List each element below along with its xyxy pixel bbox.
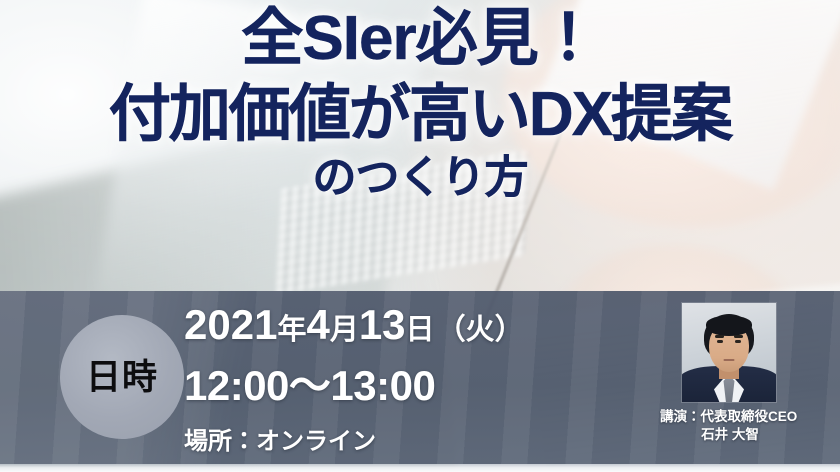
- event-month-number: 4: [306, 301, 329, 348]
- speaker-caption: 講演：代表取締役CEO 石井 大智: [682, 408, 778, 444]
- bottom-light-strip: [0, 464, 840, 472]
- event-place: 場所：オンライン: [184, 421, 524, 456]
- headline-line-2: 付加価値が高いDX提案: [0, 84, 840, 146]
- speaker-mouth-shape: [724, 359, 735, 361]
- event-day-unit: 日: [406, 314, 435, 346]
- event-datetime-block: 2021年4月13日（火） 12:00〜13:00 場所：オンライン: [184, 303, 524, 456]
- datetime-badge: 日時: [60, 315, 184, 439]
- headline: 全SIer必見！ 付加価値が高いDX提案 のつくり方: [0, 8, 840, 200]
- speaker-eye-right: [735, 340, 741, 343]
- event-year-number: 2021: [184, 301, 277, 348]
- event-day-number: 13: [359, 301, 406, 348]
- event-month-unit: 月: [330, 314, 359, 346]
- speaker-role: 講演：代表取締役CEO: [660, 408, 778, 426]
- speaker-fringe-shape: [706, 316, 752, 336]
- event-time: 12:00〜13:00: [184, 352, 524, 413]
- event-info-band: 日時 2021年4月13日（火） 12:00〜13:00 場所：オンライン: [0, 291, 840, 464]
- event-day-of-week: （火）: [437, 314, 524, 346]
- event-year-unit: 年: [277, 314, 306, 346]
- webinar-banner: 全SIer必見！ 付加価値が高いDX提案 のつくり方 日時 2021年4月13日…: [0, 0, 840, 472]
- event-date-line: 2021年4月13日（火）: [184, 303, 524, 348]
- headline-line-3: のつくり方: [0, 156, 840, 200]
- speaker-brow-left: [715, 335, 724, 338]
- datetime-badge-label: 日時: [86, 360, 158, 395]
- speaker-photo: [682, 303, 776, 402]
- speaker-brow-right: [734, 335, 743, 338]
- speaker-block: 講演：代表取締役CEO 石井 大智: [682, 303, 778, 444]
- headline-line-1: 全SIer必見！: [0, 8, 840, 70]
- speaker-eye-left: [717, 340, 723, 343]
- speaker-name: 石井 大智: [682, 426, 778, 444]
